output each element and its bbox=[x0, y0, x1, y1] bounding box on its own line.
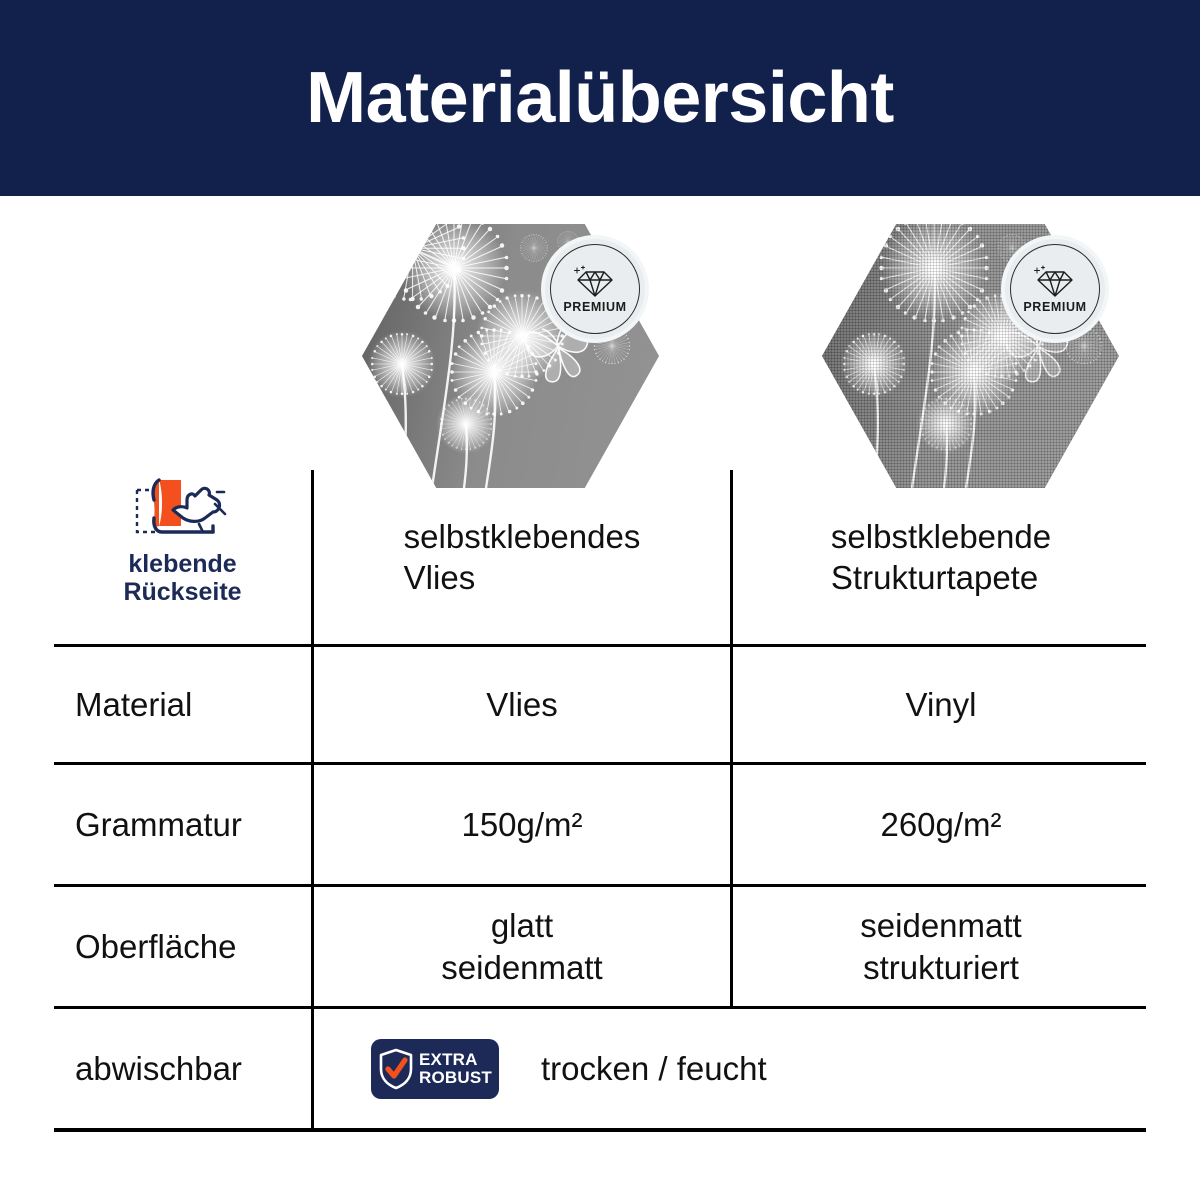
table-cell-col1: glatt seidenmatt bbox=[311, 887, 730, 1006]
preview-hexagon-vlies[interactable]: PREMIUM bbox=[362, 224, 659, 488]
premium-badge: PREMIUM bbox=[1005, 239, 1105, 339]
table-bottom-rule bbox=[54, 1128, 1146, 1132]
table-row: klebende Rückseite selbstklebendes Vlies… bbox=[54, 470, 1146, 644]
cell-value: Vinyl bbox=[906, 684, 977, 725]
table-cell-col2: seidenmatt strukturiert bbox=[730, 887, 1149, 1006]
sticky-back-caption-line2: Rückseite bbox=[123, 578, 241, 606]
cell-value: 150g/m² bbox=[461, 804, 582, 845]
shield-check-icon bbox=[378, 1048, 414, 1090]
sticky-back-cell: klebende Rückseite bbox=[54, 470, 311, 644]
table-cell-col2: selbstklebende Strukturtapete bbox=[730, 470, 1149, 644]
sticky-back-caption: klebende Rückseite bbox=[123, 550, 241, 606]
cell-value: seidenmatt strukturiert bbox=[860, 905, 1021, 988]
cell-value: Vlies bbox=[486, 684, 558, 725]
premium-badge: PREMIUM bbox=[545, 239, 645, 339]
premium-badge-label: PREMIUM bbox=[1023, 301, 1086, 314]
extra-robust-badge: EXTRA ROBUST bbox=[371, 1039, 499, 1099]
material-overview-page: Materialübersicht bbox=[0, 0, 1200, 1200]
extra-robust-label: EXTRA ROBUST bbox=[419, 1051, 492, 1086]
extra-robust-line1: EXTRA bbox=[419, 1051, 478, 1068]
table-cell-label: Oberfläche bbox=[54, 887, 311, 1006]
cell-value: glatt seidenmatt bbox=[441, 905, 602, 988]
table-cell-label: Material bbox=[54, 647, 311, 762]
table-row: Grammatur 150g/m² 260g/m² bbox=[54, 762, 1146, 884]
row-label: Material bbox=[75, 686, 192, 724]
row-label: Grammatur bbox=[75, 806, 242, 844]
table-cell-label: Grammatur bbox=[54, 765, 311, 884]
table-row: abwischbar EXTRA ROBUST trocken / feucht bbox=[54, 1006, 1146, 1128]
page-title: Materialübersicht bbox=[306, 62, 894, 134]
diamond-icon bbox=[573, 265, 617, 299]
table-cell-col1: Vlies bbox=[311, 647, 730, 762]
table-row: Oberfläche glatt seidenmatt seidenmatt s… bbox=[54, 884, 1146, 1006]
diamond-icon bbox=[1033, 265, 1077, 299]
premium-badge-label: PREMIUM bbox=[563, 301, 626, 314]
table-cell-col1: selbstklebendes Vlies bbox=[311, 470, 730, 644]
table-cell-label: abwischbar bbox=[54, 1009, 311, 1128]
cell-value: selbstklebendes Vlies bbox=[404, 516, 641, 599]
cell-value: trocken / feucht bbox=[541, 1048, 767, 1089]
table-cell-col2: 260g/m² bbox=[730, 765, 1149, 884]
table-row: Material Vlies Vinyl bbox=[54, 644, 1146, 762]
row-label: abwischbar bbox=[75, 1050, 242, 1088]
sticky-back-caption-line1: klebende bbox=[123, 550, 241, 578]
table-cell-col2: Vinyl bbox=[730, 647, 1149, 762]
extra-robust-line2: ROBUST bbox=[419, 1069, 492, 1086]
material-comparison-table: klebende Rückseite selbstklebendes Vlies… bbox=[54, 470, 1146, 1128]
peel-sticker-hand-icon bbox=[129, 474, 237, 542]
cell-value: 260g/m² bbox=[880, 804, 1001, 845]
row-label: Oberfläche bbox=[75, 928, 236, 966]
cell-value: selbstklebende Strukturtapete bbox=[831, 516, 1051, 599]
table-cell-col1: 150g/m² bbox=[311, 765, 730, 884]
page-header: Materialübersicht bbox=[0, 0, 1200, 196]
preview-hexagon-strukturtapete[interactable]: PREMIUM bbox=[822, 224, 1119, 488]
table-cell-wipeable: EXTRA ROBUST trocken / feucht bbox=[311, 1009, 1146, 1128]
